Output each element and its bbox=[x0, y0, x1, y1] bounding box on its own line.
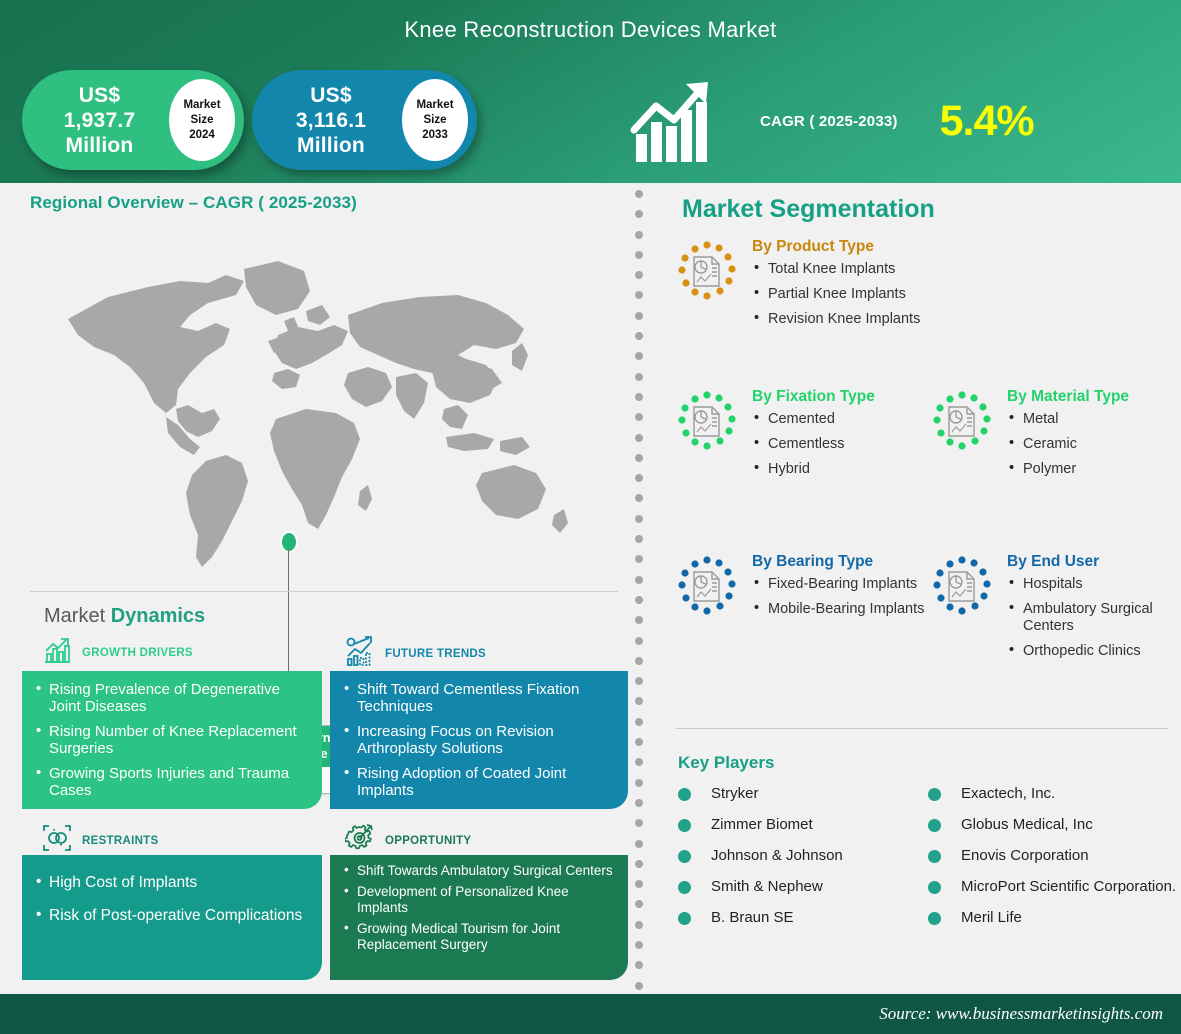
market-segmentation-title: Market Segmentation bbox=[652, 183, 1181, 224]
list-item: Zimmer Biomet bbox=[678, 816, 928, 834]
list-item: Total Knee Implants bbox=[752, 261, 920, 278]
list-item: Shift Toward Cementless Fixation Techniq… bbox=[344, 681, 616, 715]
currency-2033: US$ bbox=[310, 84, 351, 107]
market-size-2033-badge: Market Size 2033 bbox=[402, 79, 468, 161]
opportunity-box: Shift Towards Ambulatory Surgical Center… bbox=[330, 855, 628, 980]
segment-group-material-type: By Material Type Metal Ceramic Polymer bbox=[929, 388, 1129, 486]
future-trends-box: Shift Toward Cementless Fixation Techniq… bbox=[330, 671, 628, 809]
list-item: Ceramic bbox=[1007, 436, 1129, 453]
report-document-pie-chart-icon bbox=[674, 555, 740, 621]
key-player-name: Smith & Nephew bbox=[711, 878, 823, 896]
segment-group-bearing-type: By Bearing Type Fixed-Bearing Implants M… bbox=[674, 553, 924, 626]
opportunity-label: OPPORTUNITY bbox=[385, 835, 471, 847]
left-panel-divider bbox=[30, 591, 618, 592]
broken-chain-link-icon bbox=[42, 823, 72, 858]
segment-heading: By Bearing Type bbox=[752, 553, 924, 571]
list-item: Hybrid bbox=[752, 461, 875, 478]
world-map-area: Western Europe 5.4% bbox=[0, 213, 628, 613]
badge-line-2: Size bbox=[190, 113, 213, 128]
future-trends-list: Shift Toward Cementless Fixation Techniq… bbox=[344, 681, 616, 799]
world-map-svg bbox=[30, 223, 590, 583]
list-item: Fixed-Bearing Implants bbox=[752, 576, 924, 593]
bullet-dot-icon bbox=[928, 850, 941, 863]
list-item: Revision Knee Implants bbox=[752, 311, 920, 328]
restraints-box: High Cost of Implants Risk of Post-opera… bbox=[22, 855, 322, 980]
list-item: Cementless bbox=[752, 436, 875, 453]
list-item: Cemented bbox=[752, 411, 875, 428]
segment-group-product-type: By Product Type Total Knee Implants Part… bbox=[674, 238, 920, 336]
key-player-name: Enovis Corporation bbox=[961, 847, 1089, 865]
list-item: High Cost of Implants bbox=[36, 873, 310, 892]
bullet-dot-icon bbox=[678, 788, 691, 801]
left-panel: Regional Overview – CAGR ( 2025-2033) bbox=[0, 183, 628, 994]
list-item: Stryker bbox=[678, 785, 928, 803]
infographic-page: Knee Reconstruction Devices Market US$ 1… bbox=[0, 0, 1181, 1034]
list-item: Growing Sports Injuries and Trauma Cases bbox=[36, 765, 310, 799]
bullet-dot-icon bbox=[678, 850, 691, 863]
bullet-dot-icon bbox=[928, 819, 941, 832]
segment-list: Hospitals Ambulatory Surgical Centers Or… bbox=[1007, 576, 1181, 660]
key-players-column-left: Stryker Zimmer Biomet Johnson & Johnson … bbox=[678, 785, 928, 940]
report-document-pie-chart-icon bbox=[929, 555, 995, 621]
growth-drivers-list: Rising Prevalence of Degenerative Joint … bbox=[36, 681, 310, 799]
key-player-name: Globus Medical, Inc bbox=[961, 816, 1093, 834]
key-player-name: MicroPort Scientific Corporation. bbox=[961, 878, 1176, 896]
cagr-value: 5.4% bbox=[940, 97, 1034, 146]
restraints-label: RESTRAINTS bbox=[82, 835, 158, 847]
bullet-dot-icon bbox=[678, 881, 691, 894]
key-player-name: Zimmer Biomet bbox=[711, 816, 813, 834]
segment-body: By Fixation Type Cemented Cementless Hyb… bbox=[752, 388, 875, 486]
key-players-title: Key Players bbox=[678, 753, 774, 773]
report-document-pie-chart-icon bbox=[674, 240, 740, 306]
segment-list: Cemented Cementless Hybrid bbox=[752, 411, 875, 478]
restraints-header: RESTRAINTS bbox=[42, 823, 158, 858]
segment-group-end-user: By End User Hospitals Ambulatory Surgica… bbox=[929, 553, 1181, 668]
segment-list: Metal Ceramic Polymer bbox=[1007, 411, 1129, 478]
list-item: Mobile-Bearing Implants bbox=[752, 601, 924, 618]
list-item: Rising Number of Knee Replacement Surger… bbox=[36, 723, 310, 757]
list-item: Meril Life bbox=[928, 909, 1178, 927]
market-dynamics-title: Market Dynamics bbox=[44, 605, 205, 628]
segment-group-fixation-type: By Fixation Type Cemented Cementless Hyb… bbox=[674, 388, 875, 486]
list-item: Smith & Nephew bbox=[678, 878, 928, 896]
list-item: Metal bbox=[1007, 411, 1129, 428]
key-player-name: Stryker bbox=[711, 785, 759, 803]
report-document-pie-chart-icon bbox=[929, 390, 995, 456]
list-item: Enovis Corporation bbox=[928, 847, 1178, 865]
segment-list: Fixed-Bearing Implants Mobile-Bearing Im… bbox=[752, 576, 924, 618]
key-players-column-right: Exactech, Inc. Globus Medical, Inc Enovi… bbox=[928, 785, 1178, 940]
unit-2024: Million bbox=[66, 134, 134, 157]
opportunity-header: OPPORTUNITY bbox=[345, 823, 471, 858]
map-pin-western-europe[interactable] bbox=[280, 531, 298, 553]
value-2024: 1,937.7 bbox=[64, 109, 135, 132]
restraints-list: High Cost of Implants Risk of Post-opera… bbox=[36, 873, 310, 925]
list-item: Partial Knee Implants bbox=[752, 286, 920, 303]
list-item: Polymer bbox=[1007, 461, 1129, 478]
badge-line-3: 2024 bbox=[189, 128, 215, 143]
bullet-dot-icon bbox=[678, 819, 691, 832]
bar-chart-up-arrow-icon bbox=[42, 635, 72, 670]
report-document-pie-chart-icon bbox=[674, 390, 740, 456]
badge-line-1: Market bbox=[416, 98, 453, 113]
footer-bar: Source: www.businessmarketinsights.com bbox=[0, 994, 1181, 1034]
list-item: Orthopedic Clinics bbox=[1007, 643, 1181, 660]
list-item: Growing Medical Tourism for Joint Replac… bbox=[344, 921, 616, 953]
list-item: Risk of Post-operative Complications bbox=[36, 906, 310, 925]
list-item: Rising Prevalence of Degenerative Joint … bbox=[36, 681, 310, 715]
vertical-dotted-divider bbox=[631, 190, 647, 990]
segment-body: By End User Hospitals Ambulatory Surgica… bbox=[1007, 553, 1181, 668]
bullet-dot-icon bbox=[678, 912, 691, 925]
list-item: Increasing Focus on Revision Arthroplast… bbox=[344, 723, 616, 757]
key-player-name: Johnson & Johnson bbox=[711, 847, 843, 865]
source-text: Source: www.businessmarketinsights.com bbox=[879, 1004, 1163, 1024]
list-item: MicroPort Scientific Corporation. bbox=[928, 878, 1178, 896]
growth-drivers-label: GROWTH DRIVERS bbox=[82, 647, 193, 659]
bullet-dot-icon bbox=[928, 881, 941, 894]
market-size-2024-card: US$ 1,937.7 Million Market Size 2024 bbox=[22, 70, 244, 170]
segment-heading: By Fixation Type bbox=[752, 388, 875, 406]
segment-body: By Bearing Type Fixed-Bearing Implants M… bbox=[752, 553, 924, 626]
segment-body: By Material Type Metal Ceramic Polymer bbox=[1007, 388, 1129, 486]
market-dynamics-title-light: Market bbox=[44, 605, 111, 627]
segment-heading: By Product Type bbox=[752, 238, 920, 256]
regional-overview-title: Regional Overview – CAGR ( 2025-2033) bbox=[0, 183, 628, 213]
badge-line-1: Market bbox=[183, 98, 220, 113]
market-size-2024-value: US$ 1,937.7 Million bbox=[22, 83, 169, 158]
bullet-dot-icon bbox=[928, 912, 941, 925]
cagr-block: CAGR ( 2025-2033) 5.4% bbox=[630, 70, 1034, 172]
growth-drivers-header: GROWTH DRIVERS bbox=[42, 635, 193, 670]
unit-2033: Million bbox=[297, 134, 365, 157]
segment-heading: By Material Type bbox=[1007, 388, 1129, 406]
badge-line-2: Size bbox=[423, 113, 446, 128]
segment-body: By Product Type Total Knee Implants Part… bbox=[752, 238, 920, 336]
right-panel-divider bbox=[676, 728, 1168, 729]
trend-line-chart-icon bbox=[345, 635, 375, 672]
right-panel: Market Segmentation bbox=[652, 183, 1181, 994]
list-item: B. Braun SE bbox=[678, 909, 928, 927]
market-size-2024-badge: Market Size 2024 bbox=[169, 79, 235, 161]
list-item: Johnson & Johnson bbox=[678, 847, 928, 865]
list-item: Hospitals bbox=[1007, 576, 1181, 593]
cagr-label: CAGR ( 2025-2033) bbox=[760, 113, 898, 130]
key-player-name: Exactech, Inc. bbox=[961, 785, 1055, 803]
segment-heading: By End User bbox=[1007, 553, 1181, 571]
market-size-2033-value: US$ 3,116.1 Million bbox=[252, 83, 402, 158]
badge-line-3: 2033 bbox=[422, 128, 448, 143]
list-item: Rising Adoption of Coated Joint Implants bbox=[344, 765, 616, 799]
opportunity-list: Shift Towards Ambulatory Surgical Center… bbox=[344, 863, 616, 953]
future-trends-label: FUTURE TRENDS bbox=[385, 648, 486, 660]
bullet-dot-icon bbox=[928, 788, 941, 801]
list-item: Exactech, Inc. bbox=[928, 785, 1178, 803]
growth-drivers-box: Rising Prevalence of Degenerative Joint … bbox=[22, 671, 322, 809]
header-banner: Knee Reconstruction Devices Market US$ 1… bbox=[0, 0, 1181, 183]
key-players-columns: Stryker Zimmer Biomet Johnson & Johnson … bbox=[678, 785, 1178, 940]
list-item: Globus Medical, Inc bbox=[928, 816, 1178, 834]
key-player-name: B. Braun SE bbox=[711, 909, 794, 927]
list-item: Ambulatory Surgical Centers bbox=[1007, 601, 1181, 635]
segment-list: Total Knee Implants Partial Knee Implant… bbox=[752, 261, 920, 328]
value-2033: 3,116.1 bbox=[296, 109, 366, 132]
market-dynamics-title-bold: Dynamics bbox=[111, 605, 206, 627]
currency-2024: US$ bbox=[79, 84, 120, 107]
list-item: Shift Towards Ambulatory Surgical Center… bbox=[344, 863, 616, 879]
gear-target-arrow-icon bbox=[345, 823, 375, 858]
market-size-2033-card: US$ 3,116.1 Million Market Size 2033 bbox=[252, 70, 477, 170]
list-item: Development of Personalized Knee Implant… bbox=[344, 884, 616, 916]
page-title: Knee Reconstruction Devices Market bbox=[0, 17, 1181, 43]
future-trends-header: FUTURE TRENDS bbox=[345, 635, 486, 672]
growth-bar-chart-arrow-icon bbox=[630, 78, 716, 164]
key-player-name: Meril Life bbox=[961, 909, 1022, 927]
